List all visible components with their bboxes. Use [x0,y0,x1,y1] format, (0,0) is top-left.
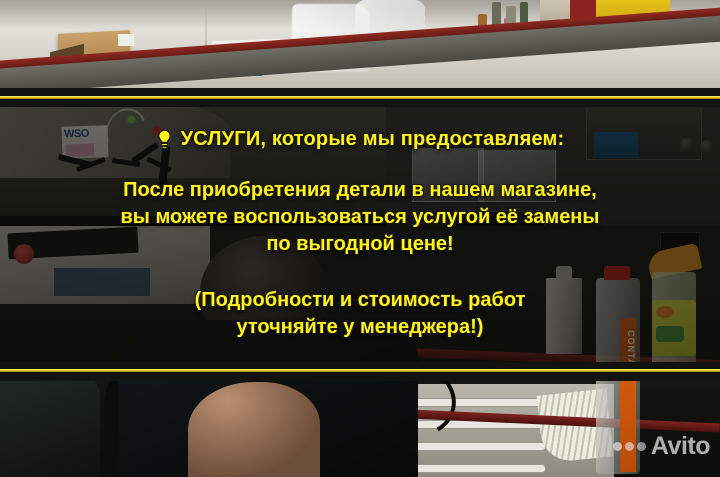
promo-paragraph-2: (Подробности и стоимость работ уточняйте… [195,287,526,341]
chair-back [0,372,100,477]
promo-paragraph-1: После приобретения детали в нашем магази… [121,177,600,258]
shelf-bottle-1 [492,2,501,26]
promo-headline-text: УСЛУГИ, которые мы предоставляем: [181,128,565,151]
promo-p1-line-2: вы можете воспользоваться услугой её зам… [121,204,600,231]
lightbulb-icon [156,129,173,151]
bottom-divider-rule [0,369,720,372]
promo-p2-line-1: (Подробности и стоимость работ [195,287,526,314]
promo-p2-line-2: уточняйте у менеджера!) [195,314,526,341]
avito-dots-icon [613,442,646,451]
promo-headline: УСЛУГИ, которые мы предоставляем: [156,128,565,151]
avito-watermark: Avito [613,434,710,459]
promo-text-block: УСЛУГИ, которые мы предоставляем: После … [0,107,720,362]
technician-arm [188,382,320,477]
small-bin [118,34,134,46]
promo-p1-line-1: После приобретения детали в нашем магази… [121,177,600,204]
top-divider-rule [0,96,720,99]
promo-p1-line-3: по выгодной цене! [121,231,600,258]
avito-ad-image: WSO CONTACT [0,0,720,477]
avito-wordmark: Avito [651,434,710,459]
